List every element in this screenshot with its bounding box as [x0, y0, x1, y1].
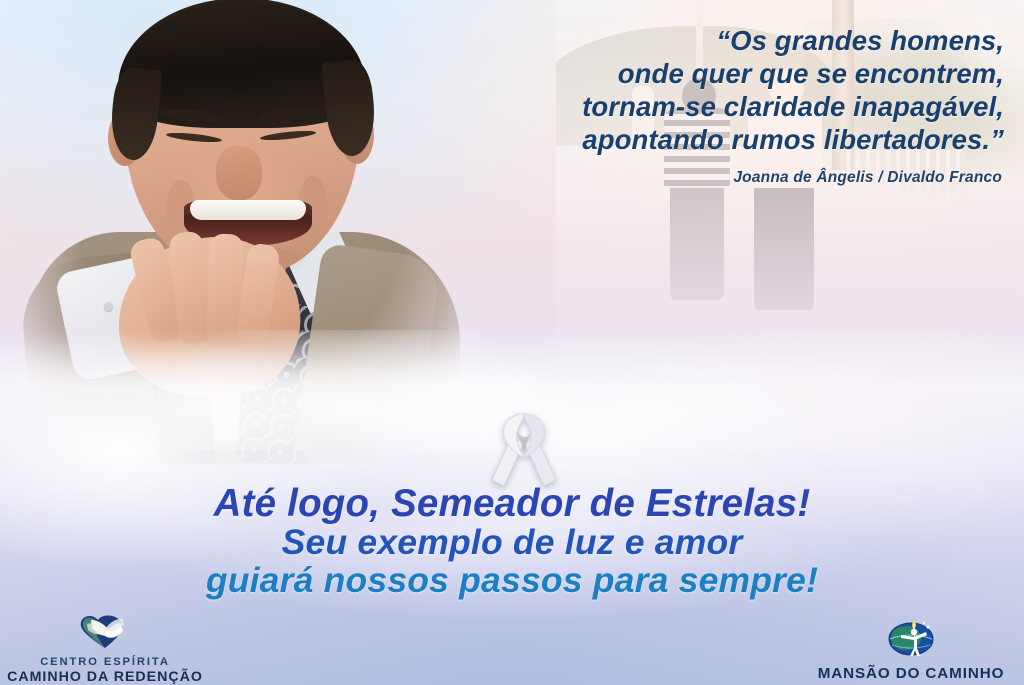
background-fence	[846, 150, 966, 228]
headline: Até logo, Semeador de Estrelas! Seu exem…	[0, 484, 1024, 599]
headline-line-1: Até logo, Semeador de Estrelas!	[0, 484, 1024, 523]
background-person-white-legs	[754, 184, 814, 310]
memorial-poster: “Os grandes homens, onde quer que se enc…	[0, 0, 1024, 685]
globe-figure-icon	[806, 612, 1016, 663]
heart-hands-icon	[0, 614, 210, 655]
quote-line-1: “Os grandes homens,	[304, 24, 1004, 57]
background-person-striped-legs	[670, 182, 724, 300]
white-ribbon-icon	[487, 408, 561, 488]
portrait-teeth	[190, 200, 306, 220]
quote-line-2: onde quer que se encontrem,	[304, 57, 1004, 90]
portrait-nose	[216, 146, 262, 200]
headline-line-3: guiará nossos passos para sempre!	[0, 561, 1024, 599]
quote-line-4: apontando rumos libertadores.”	[304, 123, 1004, 156]
logo-mansao-do-caminho-line1: MANSÃO DO CAMINHO	[806, 665, 1016, 683]
quote-text: “Os grandes homens, onde quer que se enc…	[304, 24, 1004, 156]
quote-line-3: tornam-se claridade inapagável,	[304, 90, 1004, 123]
logo-mansao-do-caminho: MANSÃO DO CAMINHO	[806, 612, 1016, 683]
headline-line-2: Seu exemplo de luz e amor	[0, 523, 1024, 561]
logo-centro-espirita-line2: CAMINHO DA REDENÇÃO	[0, 669, 210, 685]
logo-centro-espirita: CENTRO ESPÍRITA CAMINHO DA REDENÇÃO	[0, 614, 210, 685]
quote-attribution: Joanna de Ângelis / Divaldo Franco	[302, 169, 1002, 187]
logo-centro-espirita-line1: CENTRO ESPÍRITA	[0, 655, 210, 669]
